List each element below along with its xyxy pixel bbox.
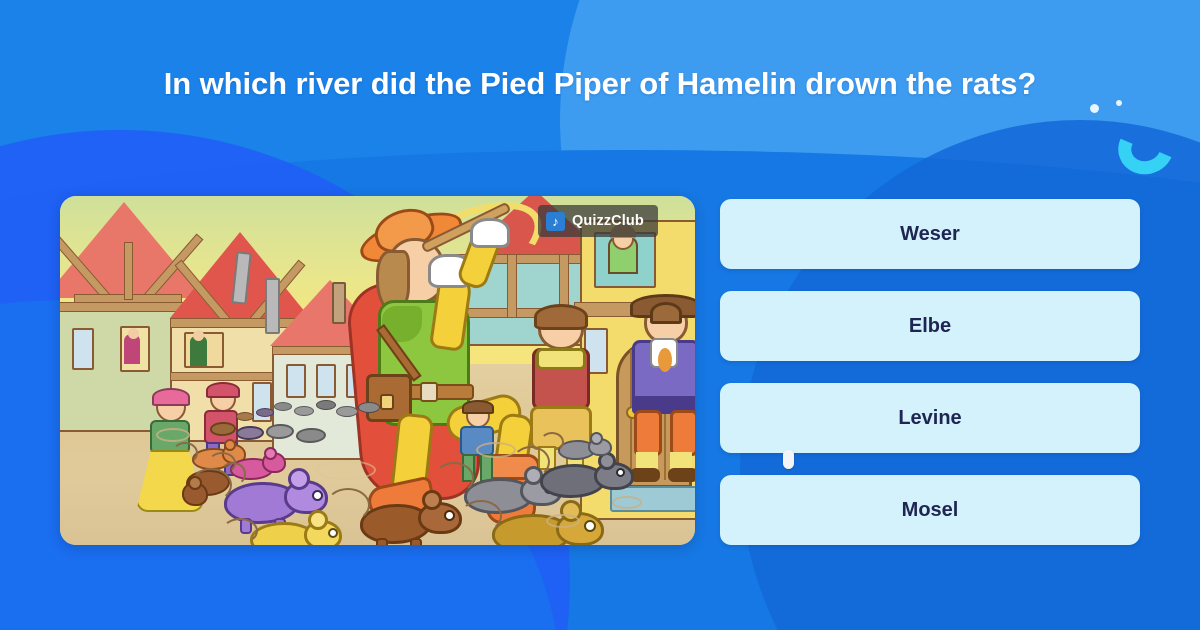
illustration-rat-small [558,434,614,462]
illustration-villager-2 [628,296,695,476]
answer-option-label: Elbe [909,315,951,338]
illustration-dust [546,514,580,528]
answer-option-1[interactable]: Weser [720,199,1140,269]
pied-piper-illustration: ♪ QuizzClub [60,196,695,545]
illustration-dust [156,428,190,442]
illustration-rat [294,406,314,416]
watermark: ♪ QuizzClub [538,205,658,237]
illustration-rat-brown-front [360,492,470,545]
answer-option-label: Mosel [902,499,959,522]
illustration-rat [336,406,358,417]
answer-option-3[interactable]: Levine [720,383,1140,453]
quizzclub-logo-icon: ♪ [546,212,565,231]
illustration-rat [358,402,380,413]
answer-option-4[interactable]: Mosel [720,475,1140,545]
illustration-dust [612,496,642,509]
illustration-chimney [332,282,346,324]
answer-option-2[interactable]: Elbe [720,291,1140,361]
illustration-chimney [265,278,280,334]
illustration-rat-yellow [250,514,346,545]
answer-options-list: Weser Elbe Levine Mosel [720,199,1140,545]
decorative-dot-icon [1090,104,1099,113]
illustration-rat [274,402,292,411]
illustration-rat [316,400,336,410]
illustration-rat [256,408,274,417]
illustration-dust [316,460,376,480]
question-image-card: ♪ QuizzClub [60,196,695,545]
illustration-rat [236,412,254,421]
mouse-cursor [783,450,794,469]
illustration-dust [476,442,516,458]
watermark-brand: QuizzClub [572,213,644,229]
answer-option-label: Weser [900,223,960,246]
question-title: In which river did the Pied Piper of Ham… [0,66,1200,102]
answer-option-label: Levine [898,407,961,430]
